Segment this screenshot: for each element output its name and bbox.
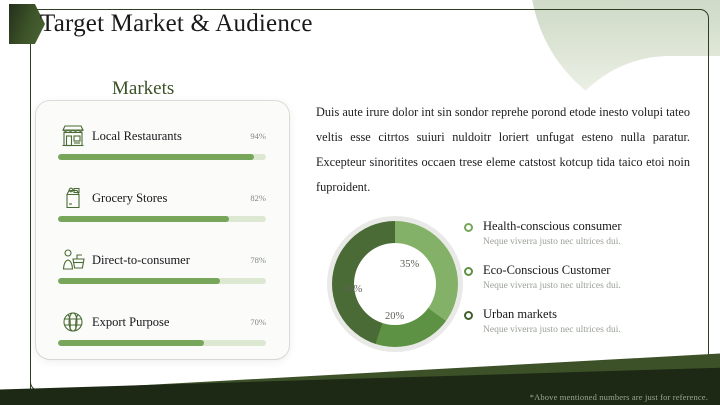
legend-item[interactable]: Health-conscious consumer Neque viverra … <box>464 219 704 249</box>
legend-item-subtitle: Neque viverra justo nec ultrices dui. <box>483 323 704 337</box>
legend-item-title: Eco-Conscious Customer <box>483 263 704 278</box>
legend-item[interactable]: Urban markets Neque viverra justo nec ul… <box>464 307 704 337</box>
market-label: Grocery Stores <box>92 191 167 206</box>
chart-legend: Health-conscious consumer Neque viverra … <box>464 219 704 351</box>
market-progress-track <box>58 340 266 346</box>
legend-ring-icon <box>464 311 473 320</box>
legend-item-subtitle: Neque viverra justo nec ultrices dui. <box>483 235 704 249</box>
donut-label-segment-3: 45% <box>343 284 362 295</box>
shopper-basket-icon <box>58 246 88 274</box>
markets-card: Local Restaurants 94% Grocery S <box>36 101 289 359</box>
legend-item-title: Urban markets <box>483 307 704 322</box>
donut-label-segment-2: 20% <box>385 311 404 322</box>
slide-canvas: Target Market & Audience Markets Local <box>0 0 720 405</box>
grocery-bag-icon <box>58 184 88 212</box>
legend-item-subtitle: Neque viverra justo nec ultrices dui. <box>483 279 704 293</box>
page-title: Target Market & Audience <box>40 10 313 38</box>
donut-label-segment-1: 35% <box>400 259 419 270</box>
market-progress-fill <box>58 154 254 160</box>
market-row[interactable]: Export Purpose 70% <box>58 307 266 346</box>
market-percent: 94% <box>250 131 266 141</box>
market-percent: 82% <box>250 193 266 203</box>
legend-item[interactable]: Eco-Conscious Customer Neque viverra jus… <box>464 263 704 293</box>
market-label: Local Restaurants <box>92 129 182 144</box>
market-label: Direct-to-consumer <box>92 253 190 268</box>
legend-item-title: Health-conscious consumer <box>483 219 704 234</box>
left-vertical-rule <box>30 9 31 393</box>
frame-left-mask <box>0 0 30 405</box>
market-progress-track <box>58 154 266 160</box>
market-progress-fill <box>58 340 204 346</box>
market-percent: 78% <box>250 255 266 265</box>
market-percent: 70% <box>250 317 266 327</box>
donut-chart: 35% 20% 45% <box>327 216 463 352</box>
market-row[interactable]: Direct-to-consumer 78% <box>58 245 266 284</box>
legend-ring-icon <box>464 267 473 276</box>
storefront-icon <box>58 122 88 150</box>
market-row[interactable]: Local Restaurants 94% <box>58 121 266 160</box>
legend-ring-icon <box>464 223 473 232</box>
globe-leaf-icon <box>58 308 88 336</box>
footer-note: *Above mentioned numbers are just for re… <box>530 392 708 402</box>
body-paragraph: Duis aute irure dolor int sin sondor rep… <box>316 100 690 200</box>
market-label: Export Purpose <box>92 315 169 330</box>
market-progress-track <box>58 278 266 284</box>
market-progress-fill <box>58 278 220 284</box>
market-row[interactable]: Grocery Stores 82% <box>58 183 266 222</box>
market-progress-track <box>58 216 266 222</box>
market-progress-fill <box>58 216 229 222</box>
section-heading-markets: Markets <box>112 78 174 100</box>
